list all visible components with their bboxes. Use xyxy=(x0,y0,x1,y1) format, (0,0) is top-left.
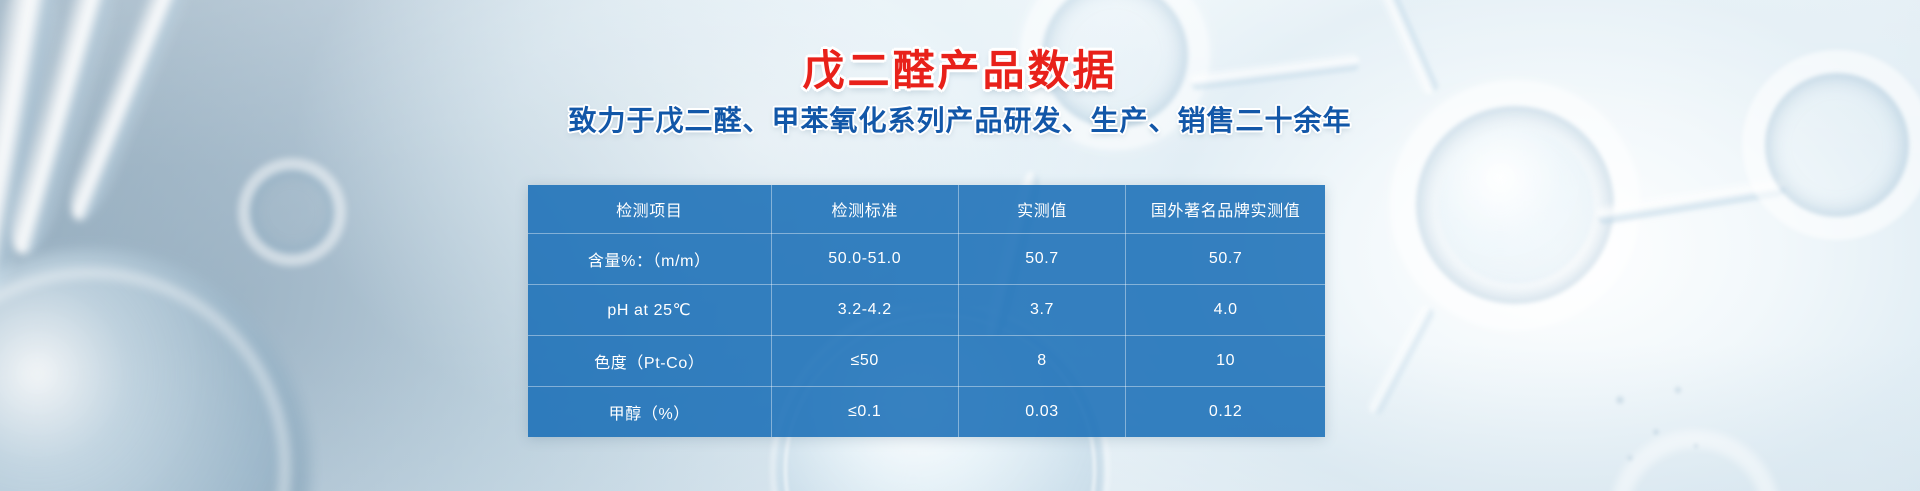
molecule-ring-icon xyxy=(1742,50,1920,240)
product-spec-table: 检测项目 检测标准 实测值 国外著名品牌实测值 含量%：（m/m） 50.0-5… xyxy=(528,185,1325,437)
table-header-row: 检测项目 检测标准 实测值 国外著名品牌实测值 xyxy=(528,185,1325,233)
cell-measured: 3.7 xyxy=(958,284,1125,335)
product-data-banner: 戊二醛产品数据 致力于戊二醛、甲苯氧化系列产品研发、生产、销售二十余年 检测项目… xyxy=(0,0,1920,491)
cell-standard: ≤0.1 xyxy=(771,386,958,437)
table-row: 含量%：（m/m） 50.0-51.0 50.7 50.7 xyxy=(528,233,1325,284)
table-body: 含量%：（m/m） 50.0-51.0 50.7 50.7 pH at 25℃ … xyxy=(528,233,1325,437)
column-header-item: 检测项目 xyxy=(528,185,771,233)
product-spec-table-container: 检测项目 检测标准 实测值 国外著名品牌实测值 含量%：（m/m） 50.0-5… xyxy=(528,185,1325,437)
cell-standard: ≤50 xyxy=(771,335,958,386)
cell-item: pH at 25℃ xyxy=(528,284,771,335)
table-row: 色度（Pt-Co） ≤50 8 10 xyxy=(528,335,1325,386)
cell-measured: 8 xyxy=(958,335,1125,386)
cell-item: 甲醇（%） xyxy=(528,386,771,437)
column-header-standard: 检测标准 xyxy=(771,185,958,233)
cell-measured: 50.7 xyxy=(958,233,1125,284)
molecule-core-icon xyxy=(1438,128,1594,284)
particle-specks-icon xyxy=(1600,380,1800,490)
cell-foreign: 50.7 xyxy=(1126,233,1325,284)
cell-item: 色度（Pt-Co） xyxy=(528,335,771,386)
cell-foreign: 0.12 xyxy=(1126,386,1325,437)
cell-measured: 0.03 xyxy=(958,386,1125,437)
cell-foreign: 4.0 xyxy=(1126,284,1325,335)
table-row: 甲醇（%） ≤0.1 0.03 0.12 xyxy=(528,386,1325,437)
table-row: pH at 25℃ 3.2-4.2 3.7 4.0 xyxy=(528,284,1325,335)
molecule-ring-icon xyxy=(238,158,346,266)
column-header-measured: 实测值 xyxy=(958,185,1125,233)
cell-standard: 3.2-4.2 xyxy=(771,284,958,335)
cell-standard: 50.0-51.0 xyxy=(771,233,958,284)
cell-item: 含量%：（m/m） xyxy=(528,233,771,284)
table-head: 检测项目 检测标准 实测值 国外著名品牌实测值 xyxy=(528,185,1325,233)
column-header-foreign: 国外著名品牌实测值 xyxy=(1126,185,1325,233)
cell-foreign: 10 xyxy=(1126,335,1325,386)
